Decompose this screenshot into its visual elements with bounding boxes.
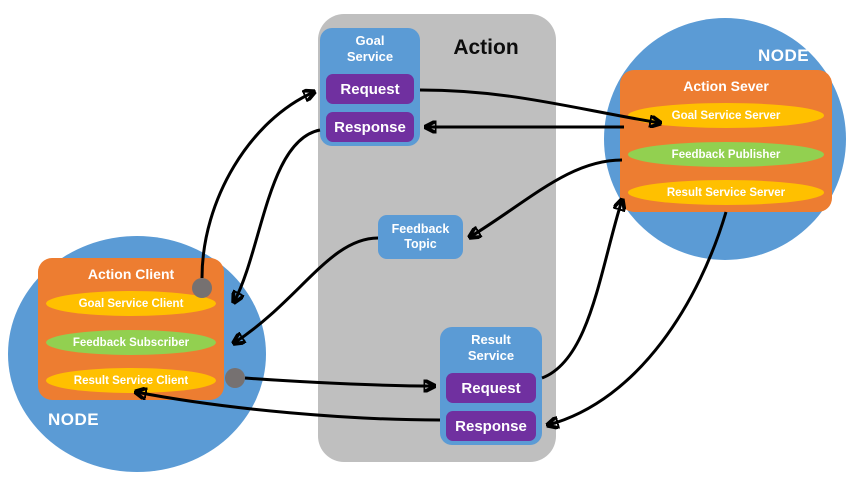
iface-goal-service-client[interactable]: Goal Service Client: [46, 291, 216, 316]
result-service-title-line1: Result: [440, 332, 542, 348]
result-service-request-chip[interactable]: Request: [446, 373, 536, 403]
goal-client-connector-dot: [192, 278, 212, 298]
goal-service-request-chip[interactable]: Request: [326, 74, 414, 104]
diagram-canvas: Action NODE Action Client Goal Service C…: [0, 0, 854, 480]
goal-service-response-chip[interactable]: Response: [326, 112, 414, 142]
result-service-title-line2: Service: [440, 348, 542, 364]
client-node-label: NODE: [48, 410, 99, 430]
feedback-topic-title-line2: Topic: [404, 237, 436, 252]
iface-goal-service-server[interactable]: Goal Service Server: [628, 103, 824, 128]
goal-service-title: Goal Service: [320, 33, 420, 65]
feedback-topic-title-line1: Feedback: [392, 222, 450, 237]
goal-service-title-line1: Goal: [320, 33, 420, 49]
action-server-title: Action Sever: [620, 78, 832, 94]
goal-service-box: Goal Service Request Response: [320, 28, 420, 146]
arrow-goal-response-to-goal-client: [234, 130, 320, 302]
iface-result-service-server[interactable]: Result Service Server: [628, 180, 824, 205]
feedback-topic-box[interactable]: Feedback Topic: [378, 215, 463, 259]
result-service-title: Result Service: [440, 332, 542, 364]
goal-service-title-line2: Service: [320, 49, 420, 65]
iface-feedback-subscriber[interactable]: Feedback Subscriber: [46, 330, 216, 355]
iface-feedback-publisher[interactable]: Feedback Publisher: [628, 142, 824, 167]
arrow-goal-client-to-goal-request: [202, 92, 314, 278]
action-group-title: Action: [424, 36, 548, 60]
iface-result-service-client[interactable]: Result Service Client: [46, 368, 216, 393]
result-service-response-chip[interactable]: Response: [446, 411, 536, 441]
action-server-box: Action Sever Goal Service Server Feedbac…: [620, 70, 832, 212]
result-client-connector-dot: [225, 368, 245, 388]
server-node-label: NODE: [758, 46, 809, 66]
result-service-box: Result Service Request Response: [440, 327, 542, 445]
